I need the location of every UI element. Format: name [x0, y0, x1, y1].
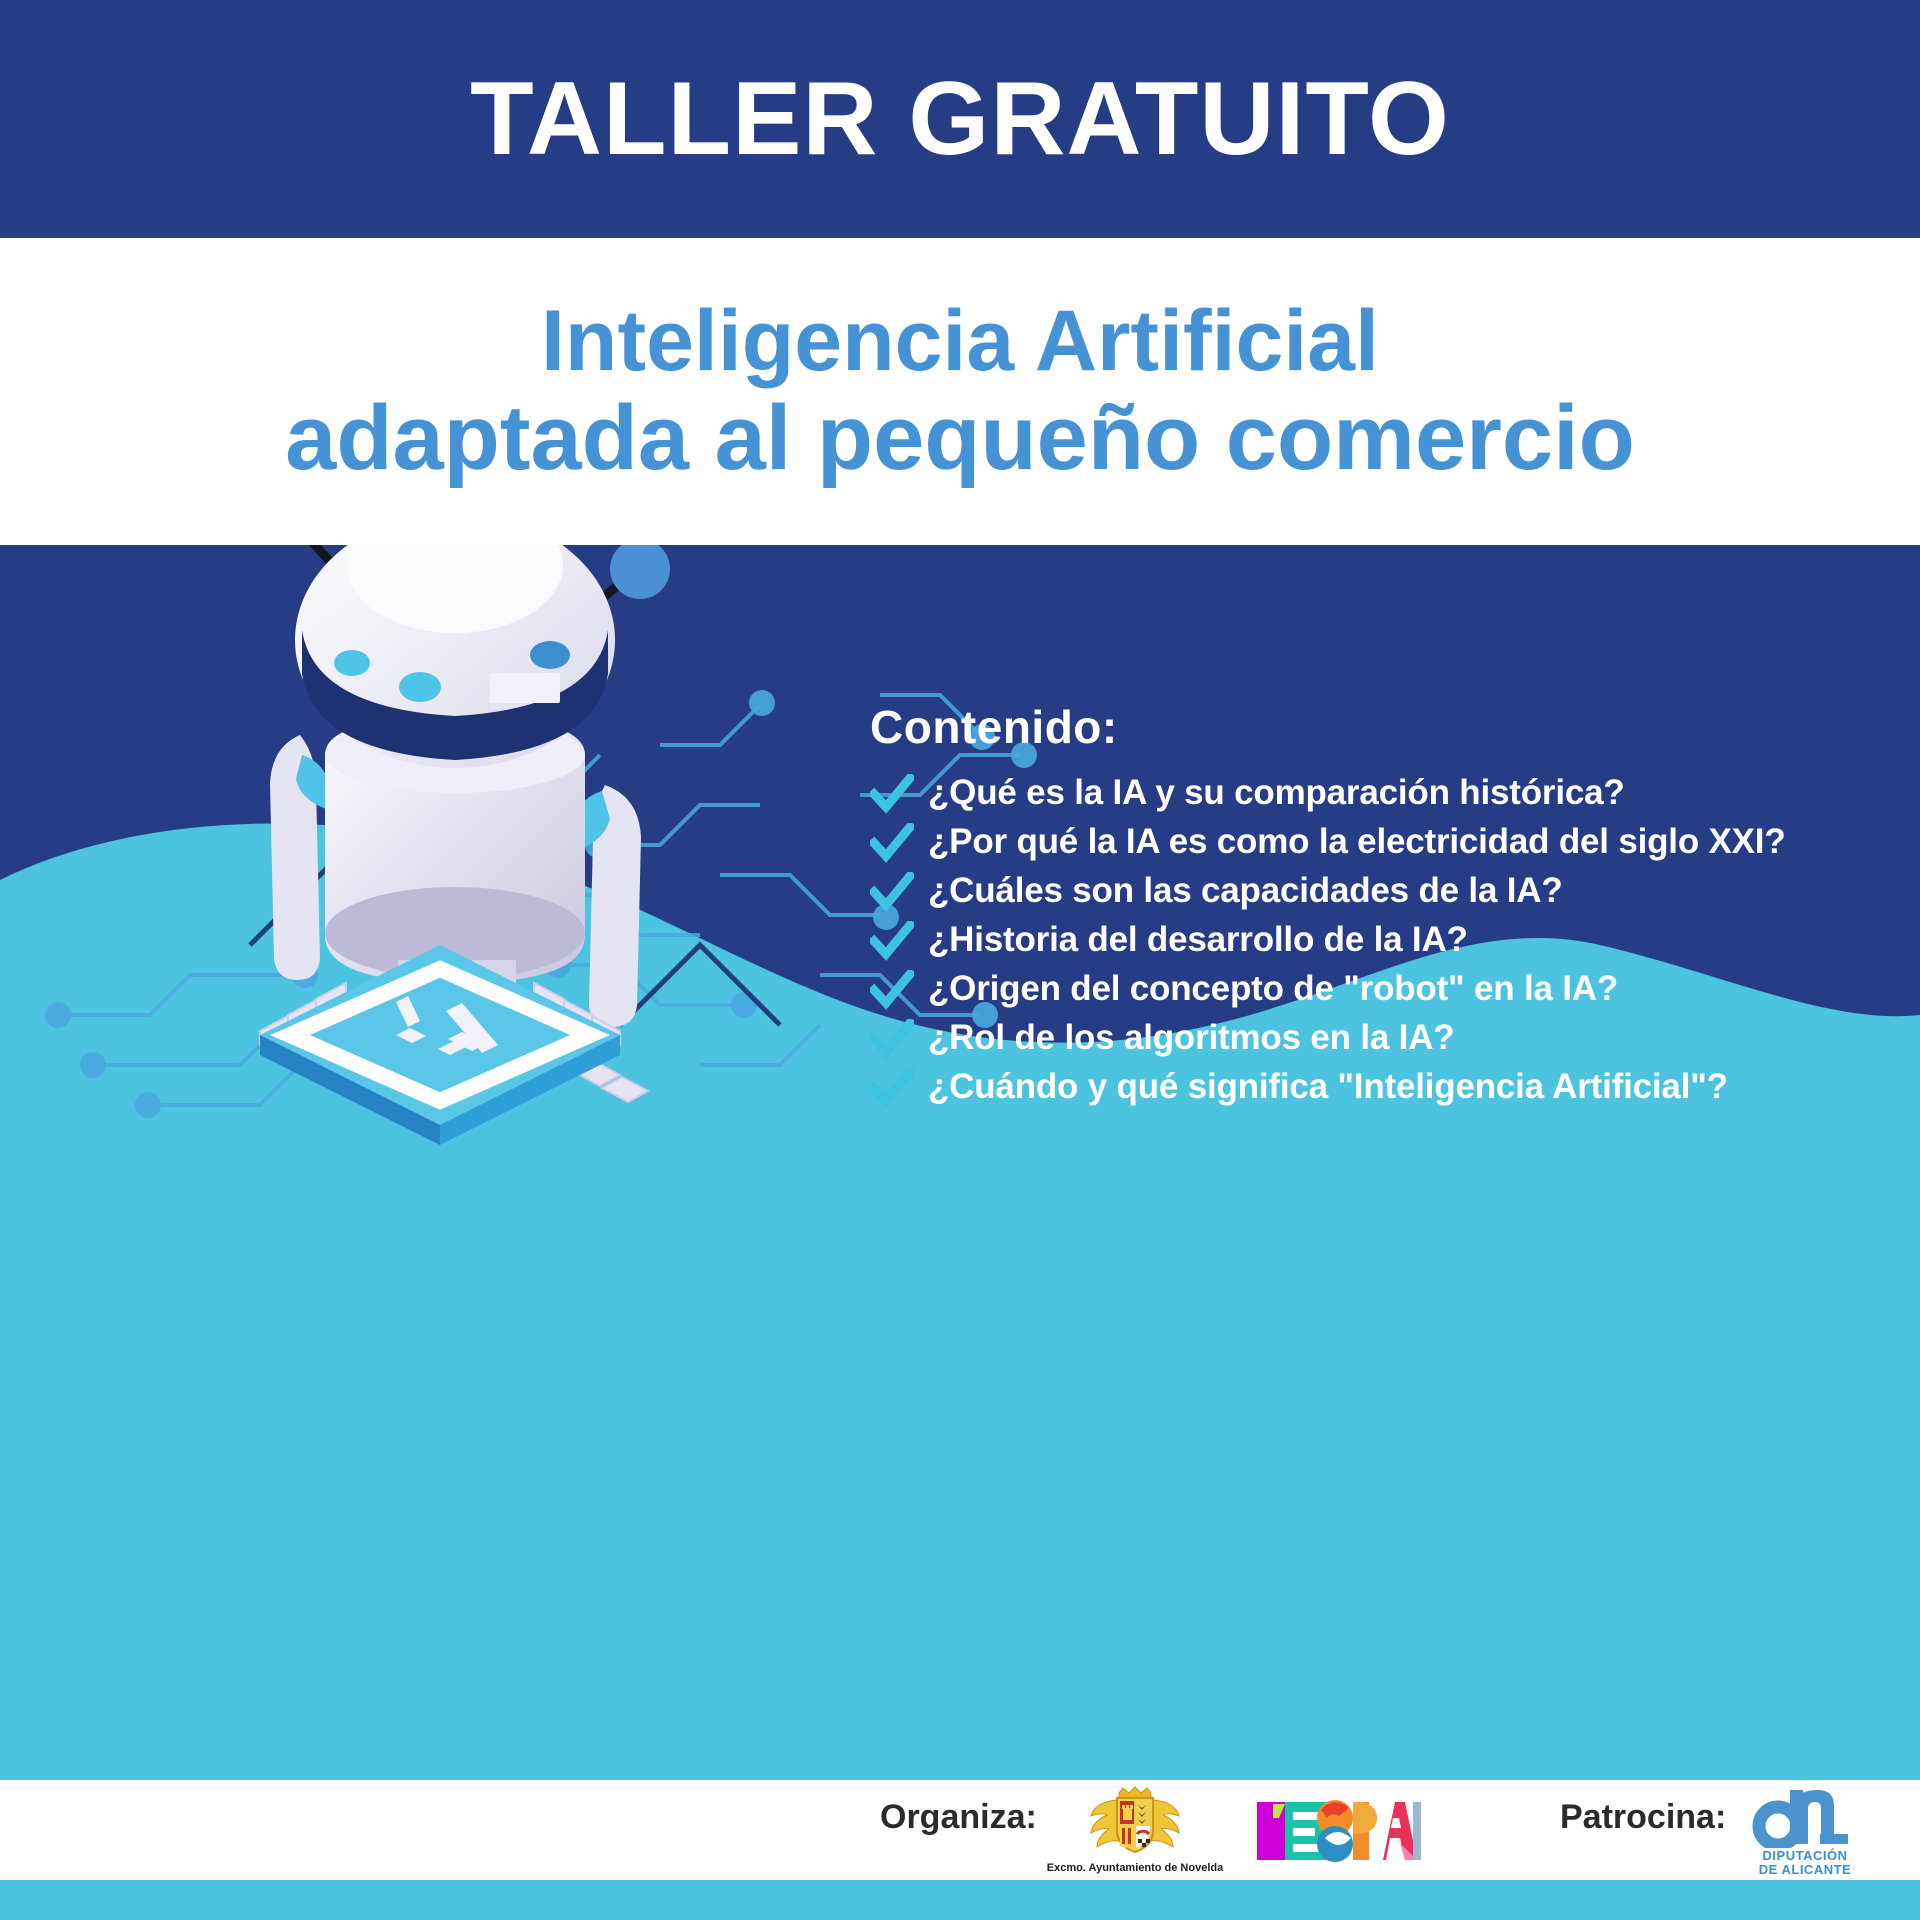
list-item-label: ¿Cuáles son las capacidades de la IA?	[928, 870, 1563, 911]
bottom-accent-bar	[0, 1880, 1920, 1920]
list-item: ¿Cuándo y qué significa "Inteligencia Ar…	[870, 1066, 1900, 1108]
main-illustration-area: Contenido: ¿Qué es la IA y su comparació…	[0, 545, 1920, 1780]
diputacion-logo-icon	[1750, 1786, 1860, 1848]
content-block: Contenido: ¿Qué es la IA y su comparació…	[870, 700, 1900, 1115]
organiza-label: Organiza:	[880, 1798, 1037, 1837]
list-item: ¿Origen del concepto de "robot" en la IA…	[870, 968, 1900, 1010]
list-item-label: ¿Historia del desarrollo de la IA?	[928, 919, 1468, 960]
robot-eye-left	[334, 650, 370, 676]
list-item: ¿Rol de los algoritmos en la IA?	[870, 1017, 1900, 1059]
workshop-title-line-2: adaptada al pequeño comercio	[285, 390, 1635, 487]
list-item: ¿Por qué la IA es como la electricidad d…	[870, 821, 1900, 863]
antenna-right-tip	[610, 545, 670, 599]
workshop-title-line-1: Inteligencia Artificial	[541, 296, 1379, 386]
poster-header: TALLER GRATUITO	[0, 0, 1920, 238]
list-item-label: ¿Por qué la IA es como la electricidad d…	[928, 821, 1786, 862]
list-item: ¿Historia del desarrollo de la IA?	[870, 919, 1900, 961]
list-item-label: ¿Origen del concepto de "robot" en la IA…	[928, 968, 1618, 1009]
check-icon	[870, 970, 914, 1010]
check-icon	[870, 774, 914, 814]
robot-illustration	[150, 545, 770, 1175]
content-list: ¿Qué es la IA y su comparación histórica…	[870, 772, 1900, 1108]
coat-of-arms-icon	[1075, 1784, 1195, 1860]
poster: TALLER GRATUITO Inteligencia Artificial …	[0, 0, 1920, 1920]
list-item-label: ¿Cuándo y qué significa "Inteligencia Ar…	[928, 1066, 1728, 1107]
lespai-logo-icon	[1255, 1798, 1423, 1864]
list-item: ¿Cuáles son las capacidades de la IA?	[870, 870, 1900, 912]
diputacion-alicante-logo: DIPUTACIÓNDE ALICANTE	[1745, 1786, 1865, 1878]
robot-visor-slot	[490, 673, 560, 703]
robot-eye-mid	[399, 672, 441, 702]
list-item-label: ¿Qué es la IA y su comparación histórica…	[928, 772, 1625, 813]
check-icon	[870, 1019, 914, 1059]
check-icon	[870, 872, 914, 912]
check-icon	[870, 1068, 914, 1108]
list-item-label: ¿Rol de los algoritmos en la IA?	[928, 1017, 1454, 1058]
content-heading: Contenido:	[870, 700, 1900, 754]
list-item: ¿Qué es la IA y su comparación histórica…	[870, 772, 1900, 814]
check-icon	[870, 921, 914, 961]
lespai-logo	[1255, 1798, 1423, 1864]
novelda-logo-caption: Excmo. Ayuntamiento de Novelda	[1047, 1862, 1223, 1874]
poster-footer: Organiza:	[0, 1780, 1920, 1880]
title-band: Inteligencia Artificial adaptada al pequ…	[0, 238, 1920, 545]
patrocina-label: Patrocina:	[1560, 1798, 1726, 1837]
page-title: TALLER GRATUITO	[470, 67, 1450, 171]
novelda-coat-of-arms-logo: Excmo. Ayuntamiento de Novelda	[1060, 1784, 1210, 1880]
robot-eye-right	[530, 641, 570, 669]
check-icon	[870, 823, 914, 863]
diputacion-logo-caption: DIPUTACIÓNDE ALICANTE	[1759, 1849, 1851, 1878]
